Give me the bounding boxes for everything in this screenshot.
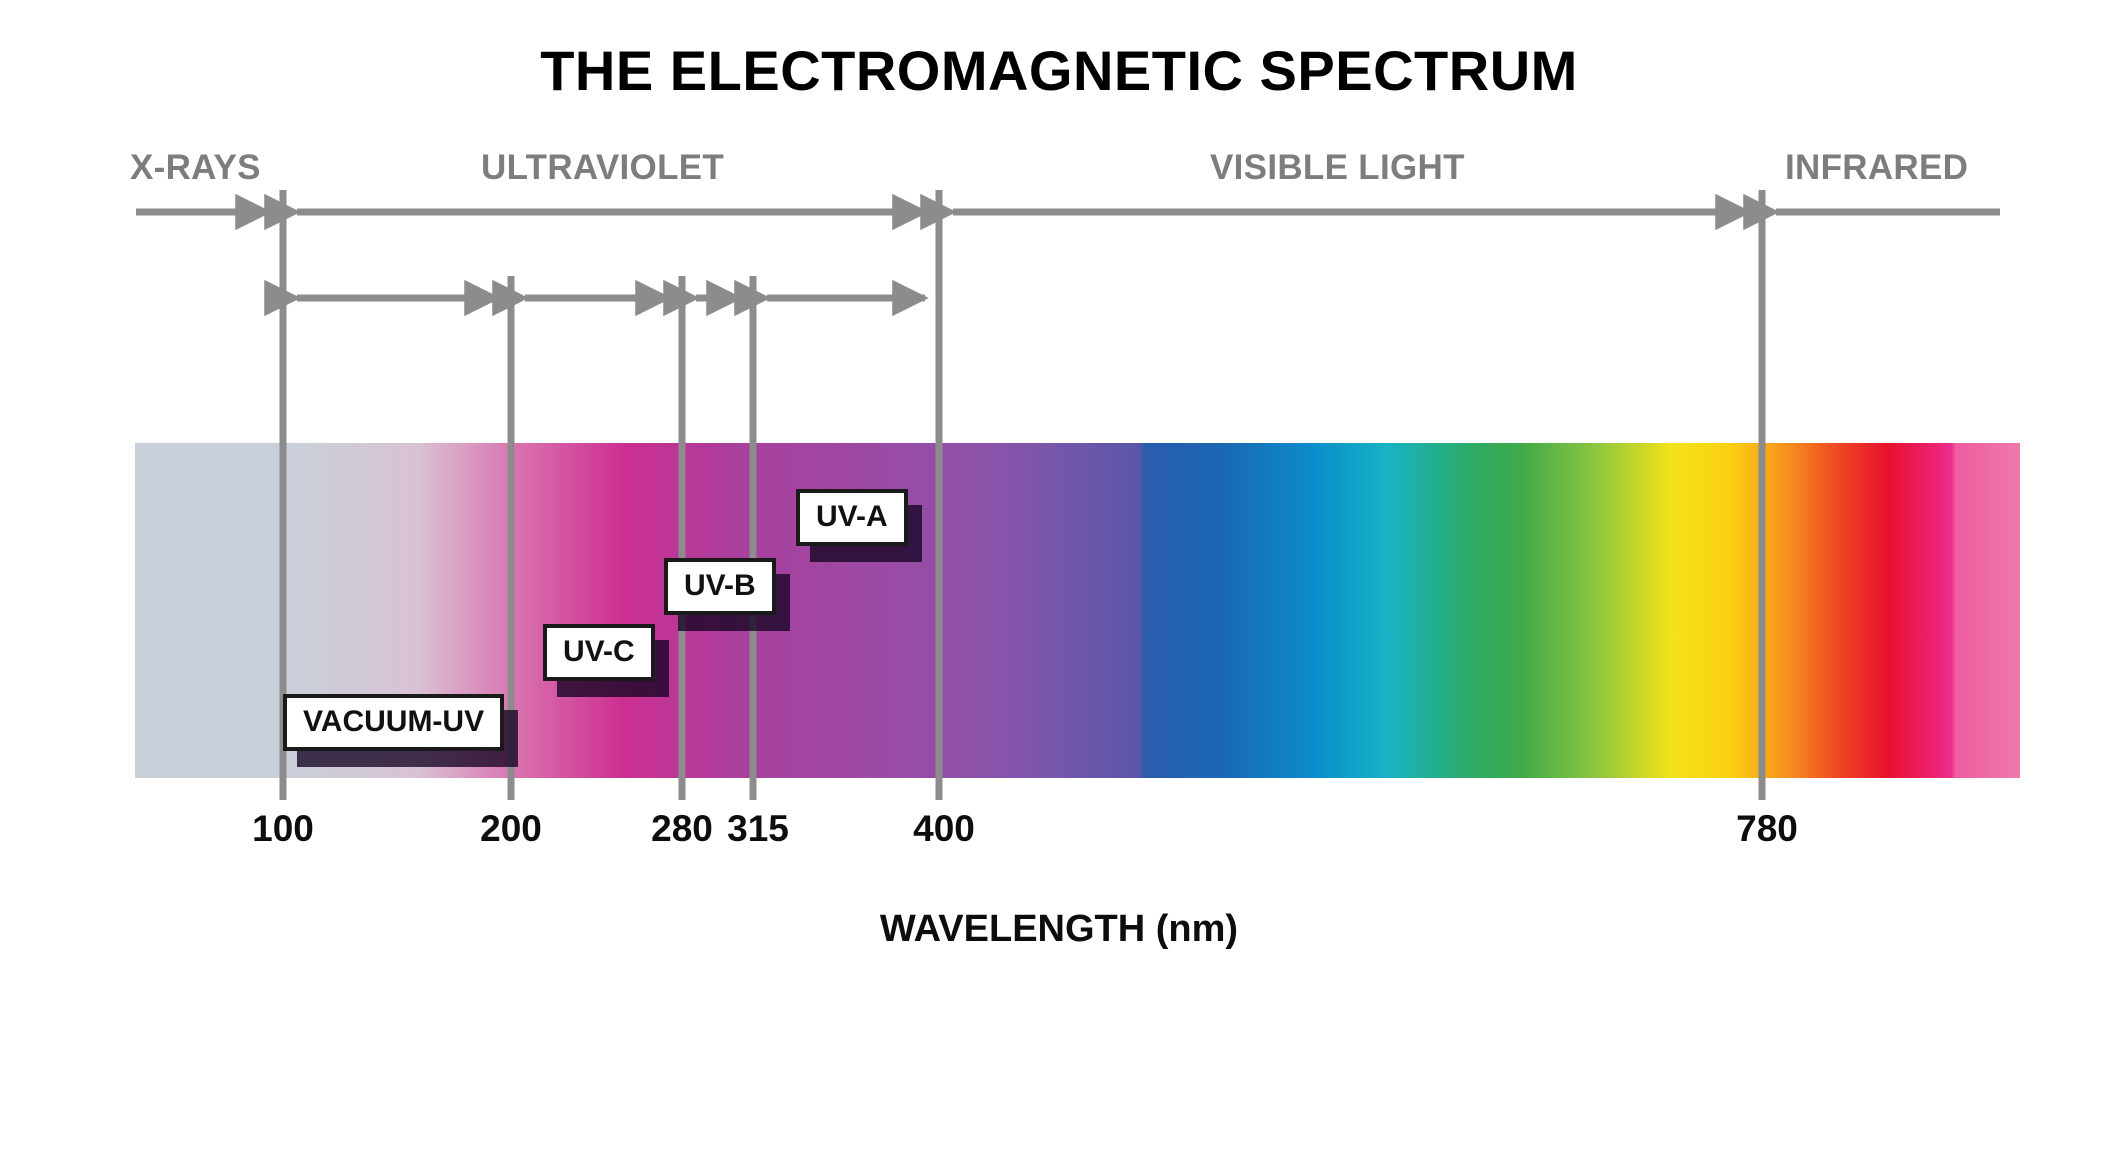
callout-uv-b: UV-B	[664, 558, 776, 615]
tick-label-100: 100	[252, 808, 314, 850]
band-label-x-rays: X-RAYS	[130, 148, 261, 188]
page-title: THE ELECTROMAGNETIC SPECTRUM	[0, 38, 2118, 103]
band-label-ultraviolet: ULTRAVIOLET	[481, 148, 724, 188]
callout-uv-c: UV-C	[543, 624, 655, 681]
tick-label-315: 315	[727, 808, 789, 850]
tick-label-200: 200	[480, 808, 542, 850]
band-label-infrared: INFRARED	[1785, 148, 1968, 188]
tick-label-400: 400	[913, 808, 975, 850]
electromagnetic-spectrum-figure: THE ELECTROMAGNETIC SPECTRUM X-RAYS ULTR…	[0, 0, 2118, 1156]
callout-vacuum-uv: VACUUM-UV	[283, 694, 504, 751]
callout-uv-a: UV-A	[796, 489, 908, 546]
band-label-visible-light: VISIBLE LIGHT	[1210, 148, 1465, 188]
axis-title: WAVELENGTH (nm)	[0, 908, 2118, 951]
tick-label-780: 780	[1736, 808, 1798, 850]
tick-label-280: 280	[651, 808, 713, 850]
